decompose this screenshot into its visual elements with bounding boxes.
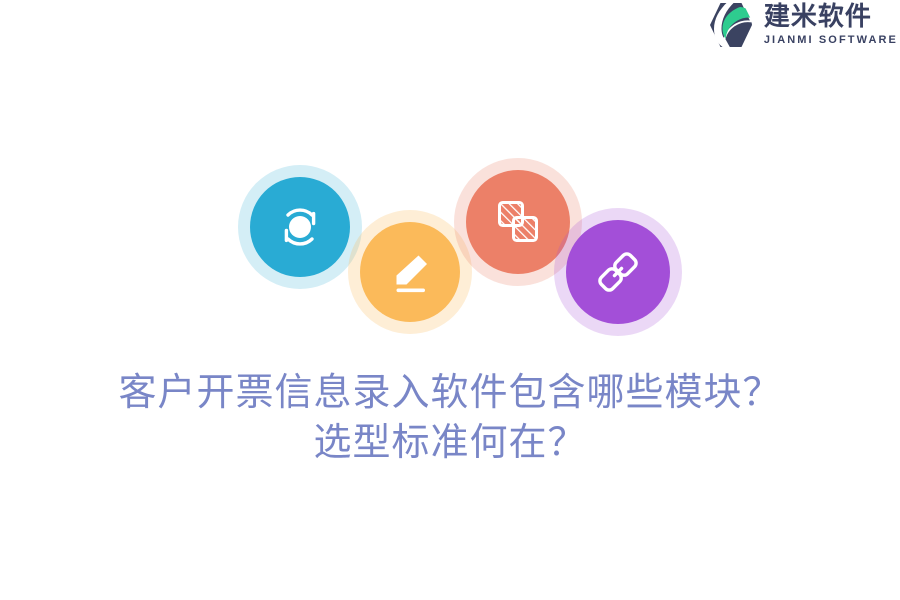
page-title: 客户开票信息录入软件包含哪些模块？ 选型标准何在？: [0, 367, 900, 467]
copy-layers-striped-icon: [489, 193, 547, 251]
icon-bubble-cluster: [0, 0, 900, 360]
bubble-blue[interactable]: [238, 165, 362, 289]
chain-link-icon: [589, 243, 647, 301]
page-root: 建米软件 JIANMI SOFTWARE: [0, 0, 900, 600]
aperture-sync-icon: [272, 199, 328, 255]
page-title-line-1: 客户开票信息录入软件包含哪些模块？: [0, 367, 900, 417]
pencil-edit-icon: [382, 244, 438, 300]
bubble-purple[interactable]: [554, 208, 682, 336]
bubble-blue-core: [250, 177, 350, 277]
bubble-purple-core: [566, 220, 670, 324]
page-title-line-2: 选型标准何在？: [0, 417, 900, 467]
bubble-orange-core: [360, 222, 460, 322]
